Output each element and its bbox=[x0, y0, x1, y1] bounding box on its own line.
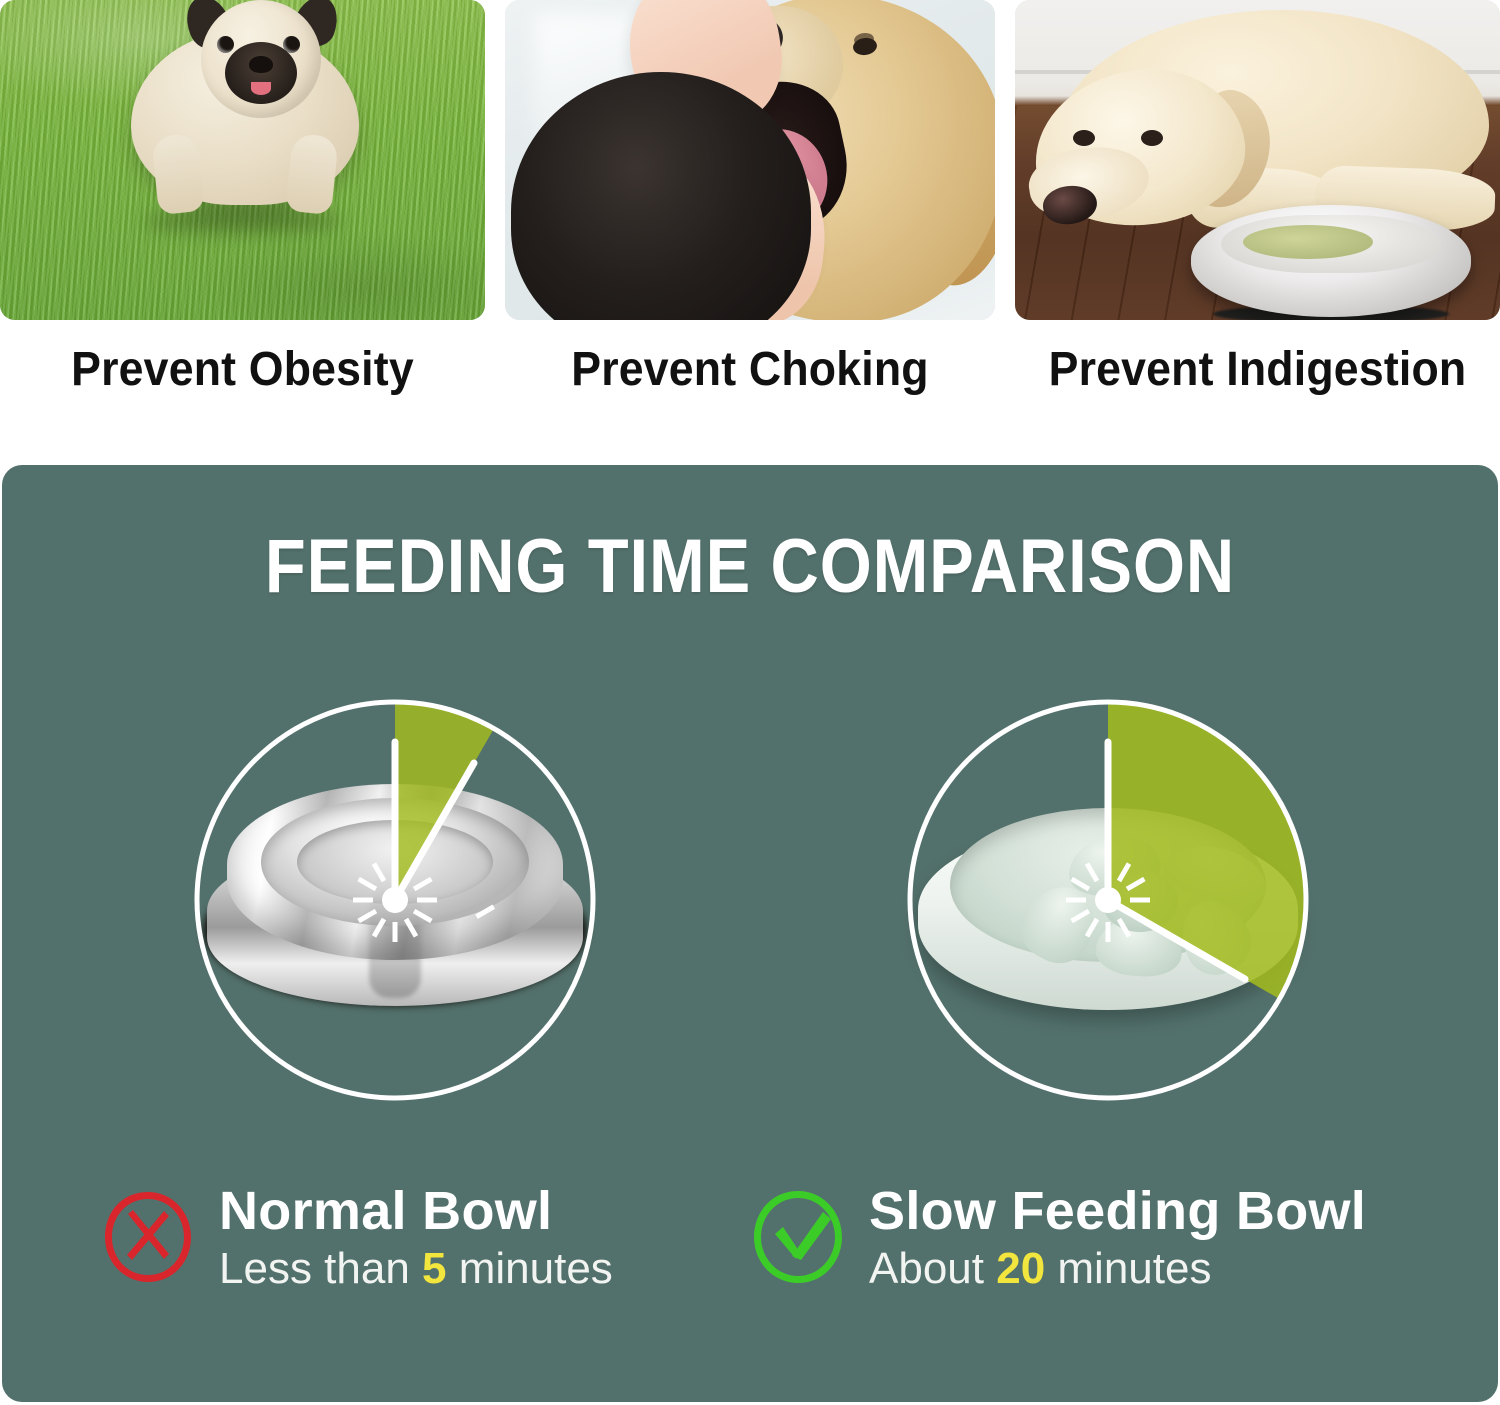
caption-prevent-choking: Prevent Choking bbox=[522, 330, 978, 410]
benefit-photo-strip bbox=[0, 0, 1500, 325]
pug-nose bbox=[249, 56, 273, 73]
feeding-time-comparison-panel: FEEDING TIME COMPARISON bbox=[2, 465, 1498, 1402]
clock-ticks bbox=[353, 858, 494, 942]
slow-bowl-duration: About 20 minutes bbox=[869, 1242, 1366, 1296]
photo-prevent-indigestion bbox=[1015, 0, 1500, 320]
slow-bowl-duration-value: 20 bbox=[996, 1244, 1045, 1293]
slow-bowl-clock-column bbox=[888, 680, 1328, 1130]
red-x-circle-icon bbox=[97, 1186, 199, 1288]
slow-bowl-duration-prefix: About bbox=[869, 1244, 996, 1293]
slow-bowl-title: Slow Feeding Bowl bbox=[869, 1180, 1366, 1242]
normal-bowl-clock-column bbox=[175, 680, 615, 1130]
labrador-eye-right bbox=[1141, 130, 1163, 146]
slow-bowl-legend-text: Slow Feeding Bowl About 20 minutes bbox=[869, 1180, 1366, 1296]
dog-choking-mouth-check-image bbox=[505, 0, 995, 320]
clock-center-hub bbox=[1095, 887, 1121, 913]
pug-tongue bbox=[251, 82, 271, 95]
photo-prevent-choking bbox=[505, 0, 995, 320]
pug-leg-left bbox=[151, 133, 205, 215]
pug-eye-left bbox=[217, 36, 234, 53]
normal-bowl-dial bbox=[175, 680, 615, 1120]
overweight-pug-on-grass-image bbox=[0, 0, 485, 320]
normal-bowl-clock-svg bbox=[175, 680, 615, 1120]
normal-bowl-duration: Less than 5 minutes bbox=[219, 1242, 613, 1296]
caption-prevent-obesity: Prevent Obesity bbox=[17, 330, 468, 410]
panel-title: FEEDING TIME COMPARISON bbox=[92, 523, 1408, 610]
slow-bowl-legend: Slow Feeding Bowl About 20 minutes bbox=[747, 1180, 1447, 1305]
metal-food-bowl bbox=[1191, 205, 1471, 317]
normal-bowl-duration-prefix: Less than bbox=[219, 1244, 422, 1293]
lab-lying-next-to-bowl-image bbox=[1015, 0, 1500, 320]
slow-bowl-dial bbox=[888, 680, 1328, 1120]
photo-prevent-obesity bbox=[0, 0, 485, 320]
pug-figure bbox=[113, 0, 373, 240]
normal-bowl-legend-text: Normal Bowl Less than 5 minutes bbox=[219, 1180, 613, 1296]
normal-bowl-duration-suffix: minutes bbox=[447, 1244, 613, 1293]
bowl-food bbox=[1243, 225, 1373, 259]
benefit-captions: Prevent Obesity Prevent Choking Prevent … bbox=[0, 330, 1500, 440]
clock-center-hub bbox=[382, 887, 408, 913]
labrador-eye-left bbox=[1073, 130, 1095, 146]
pug-leg-right bbox=[285, 133, 339, 215]
infographic-page: Prevent Obesity Prevent Choking Prevent … bbox=[0, 0, 1500, 1405]
normal-bowl-legend: Normal Bowl Less than 5 minutes bbox=[97, 1180, 717, 1305]
normal-bowl-duration-value: 5 bbox=[422, 1244, 446, 1293]
green-check-circle-icon bbox=[747, 1186, 849, 1288]
normal-bowl-title: Normal Bowl bbox=[219, 1180, 613, 1242]
caption-prevent-indigestion: Prevent Indigestion bbox=[1032, 330, 1483, 410]
slow-bowl-clock-svg bbox=[888, 680, 1328, 1120]
slow-bowl-duration-suffix: minutes bbox=[1045, 1244, 1211, 1293]
